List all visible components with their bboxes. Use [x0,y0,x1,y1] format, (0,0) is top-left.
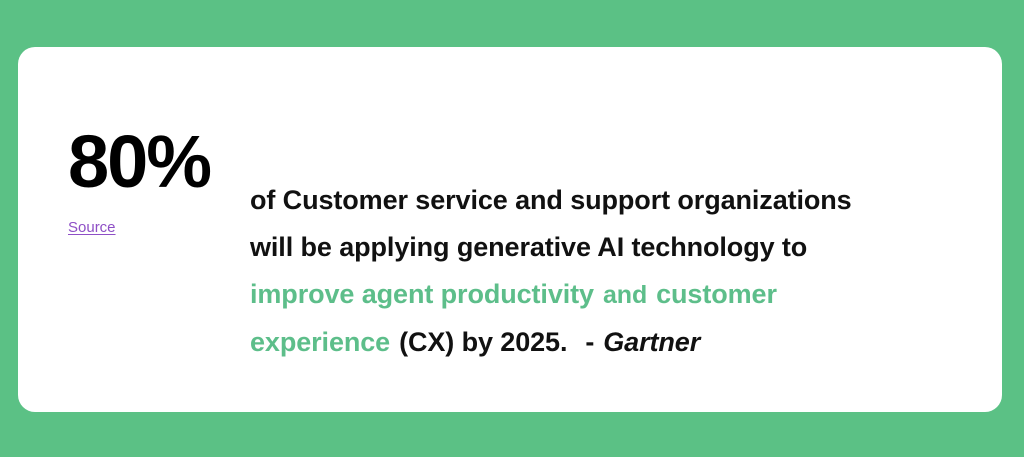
quote-text-block: of Customer service and support organiza… [250,177,950,366]
stat-block: 80% Source [68,125,218,237]
stat-percentage: 80% [68,125,218,199]
quote-line-2-text: will be applying generative AI technolog… [250,232,807,262]
quote-card: 80% Source of Customer service and suppo… [18,47,1002,412]
quote-line-1: of Customer service and support organiza… [250,177,950,224]
quote-line-3: improve agent productivityandcustomer [250,271,950,319]
quote-line-1-text: of Customer service and support organiza… [250,185,852,215]
quote-line-4-rest: (CX) by 2025. [399,327,567,357]
attribution-source: Gartner [603,327,700,357]
quote-highlight-improve-agent-productivity: improve agent productivity [250,279,594,309]
quote-line-2: will be applying generative AI technolog… [250,224,950,271]
source-link[interactable]: Source [68,219,116,237]
quote-highlight-customer: customer [656,279,777,309]
quote-line-4: experience(CX) by 2025.-Gartner [250,319,950,366]
quote-highlight-and: and [603,281,647,309]
quote-highlight-experience: experience [250,327,390,357]
slide-canvas: 80% Source of Customer service and suppo… [0,0,1024,457]
attribution-dash: - [585,327,594,357]
